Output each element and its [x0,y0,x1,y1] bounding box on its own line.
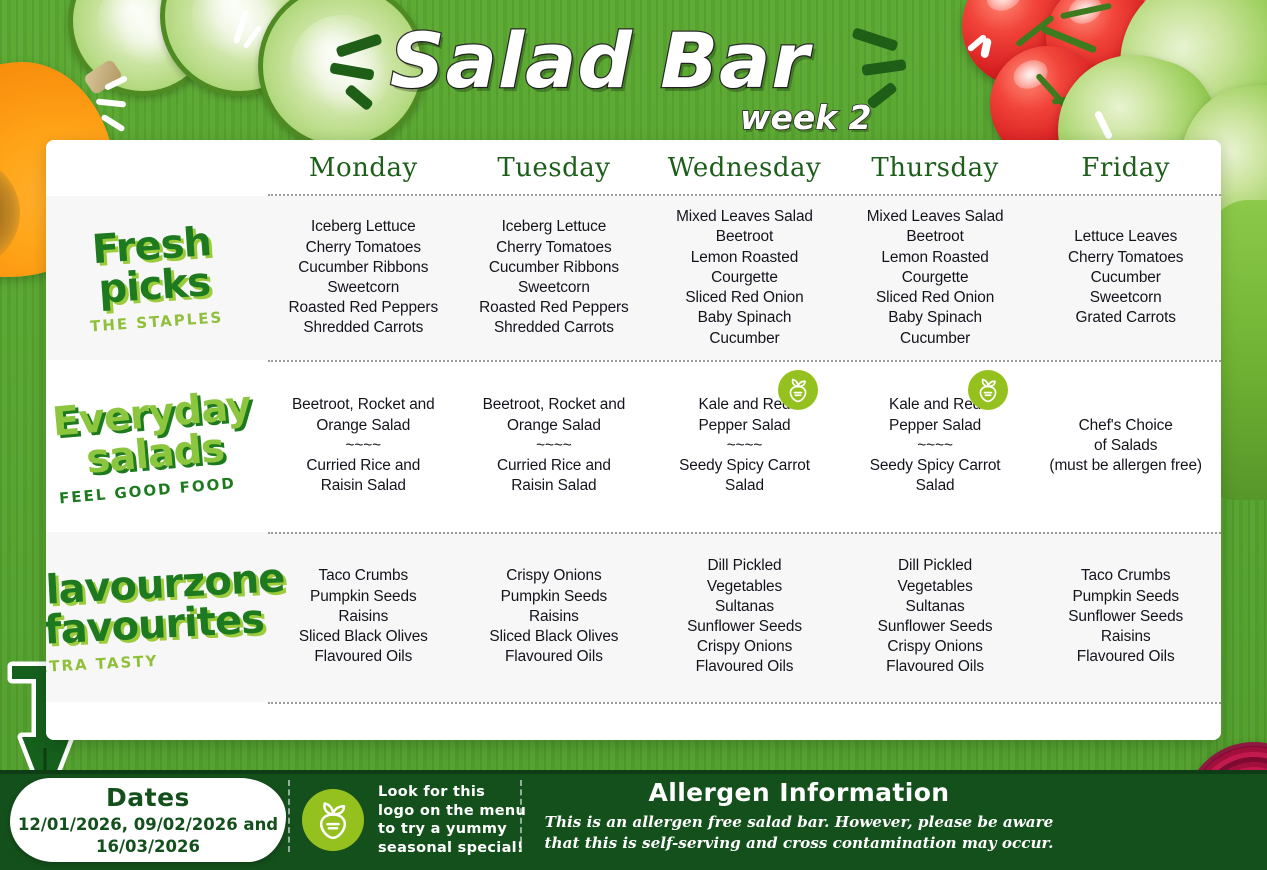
menu-items: Kale and Red Pepper Salad ~~~~ Seedy Spi… [870,395,1001,496]
row-divider [268,194,1221,196]
section-title: Everyday salads [50,385,255,482]
menu-cell-fresh-tuesday: Iceberg Lettuce Cherry Tomatoes Cucumber… [459,196,650,360]
seasonal-special-beetroot-icon [968,370,1008,410]
menu-items: Mixed Leaves Salad Beetroot Lemon Roaste… [867,207,1004,348]
menu-items: Dill Pickled Vegetables Sultanas Sunflow… [687,556,802,677]
menu-items: Chef's Choice of Salads (must be allerge… [1049,416,1202,477]
menu-items: Crispy Onions Pumpkin Seeds Raisins Slic… [489,566,618,667]
menu-cell-flavourzone-wednesday: Dill Pickled Vegetables Sultanas Sunflow… [649,532,840,702]
dates-value: 12/01/2026, 09/02/2026 and 16/03/2026 [18,814,278,858]
menu-items: Iceberg Lettuce Cherry Tomatoes Cucumber… [479,217,629,338]
grid-bottom-spacer [1030,702,1221,740]
dates-title: Dates [106,783,190,812]
seasonal-special-beetroot-icon [778,370,818,410]
section-label-fresh-picks: Fresh picks THE STAPLES [46,196,268,360]
grid-bottom-spacer [459,702,650,740]
menu-cell-flavourzone-monday: Taco Crumbs Pumpkin Seeds Raisins Sliced… [268,532,459,702]
grid-bottom-spacer [268,702,459,740]
menu-cell-fresh-friday: Lettuce Leaves Cherry Tomatoes Cucumber … [1030,196,1221,360]
menu-cell-flavourzone-tuesday: Crispy Onions Pumpkin Seeds Raisins Slic… [459,532,650,702]
grid-bottom-spacer [649,702,840,740]
day-header-tuesday: Tuesday [459,140,650,196]
menu-cell-fresh-thursday: Mixed Leaves Salad Beetroot Lemon Roaste… [840,196,1031,360]
week-label: week 2 [740,98,872,137]
menu-cell-flavourzone-thursday: Dill Pickled Vegetables Sultanas Sunflow… [840,532,1031,702]
grid-bottom-spacer [46,702,268,740]
menu-cell-fresh-monday: Iceberg Lettuce Cherry Tomatoes Cucumber… [268,196,459,360]
section-label-everyday-salads: Everyday salads FEEL GOOD FOOD [46,360,268,532]
salad-bar-poster: Salad Bar week 2 Monday Tuesday Wednesda… [0,0,1267,870]
grid-corner-spacer [46,140,268,196]
menu-grid: Monday Tuesday Wednesday Thursday Friday… [46,140,1221,740]
menu-card: Monday Tuesday Wednesday Thursday Friday… [46,140,1221,740]
dates-panel: Dates 12/01/2026, 09/02/2026 and 16/03/2… [10,778,286,862]
menu-cell-everyday-friday: Chef's Choice of Salads (must be allerge… [1030,360,1221,532]
menu-items: Beetroot, Rocket and Orange Salad ~~~~ C… [292,395,435,496]
seasonal-note-text: Look for this logo on the menu to try a … [378,783,526,857]
footer-divider [288,780,290,852]
menu-items: Iceberg Lettuce Cherry Tomatoes Cucumber… [289,217,439,338]
menu-items: Beetroot, Rocket and Orange Salad ~~~~ C… [483,395,626,496]
page-title: Salad Bar [390,16,810,105]
seasonal-logo-note: Look for this logo on the menu to try a … [302,783,526,857]
section-label-flavourzone-favourites: Flavourzone favourites EXTRA TASTY [46,532,268,702]
menu-items: Dill Pickled Vegetables Sultanas Sunflow… [878,556,993,677]
grid-bottom-spacer [840,702,1031,740]
section-title: Fresh picks [84,221,223,310]
menu-cell-everyday-wednesday: Kale and Red Pepper Salad ~~~~ Seedy Spi… [649,360,840,532]
menu-items: Kale and Red Pepper Salad ~~~~ Seedy Spi… [679,395,810,496]
menu-items: Taco Crumbs Pumpkin Seeds Sunflower Seed… [1068,566,1183,667]
row-divider [268,702,1221,704]
day-header-wednesday: Wednesday [649,140,840,196]
row-divider [268,532,1221,534]
poster-header: Salad Bar week 2 [0,0,1267,142]
menu-items: Lettuce Leaves Cherry Tomatoes Cucumber … [1068,227,1183,328]
row-divider [268,360,1221,362]
menu-items: Taco Crumbs Pumpkin Seeds Raisins Sliced… [299,566,428,667]
section-title: Flavourzone favourites [46,558,288,652]
menu-cell-everyday-tuesday: Beetroot, Rocket and Orange Salad ~~~~ C… [459,360,650,532]
allergen-body: This is an allergen free salad bar. Howe… [534,812,1064,854]
allergen-information: Allergen Information This is an allergen… [534,778,1064,854]
allergen-title: Allergen Information [534,778,1064,807]
day-header-monday: Monday [268,140,459,196]
menu-cell-everyday-thursday: Kale and Red Pepper Salad ~~~~ Seedy Spi… [840,360,1031,532]
menu-cell-everyday-monday: Beetroot, Rocket and Orange Salad ~~~~ C… [268,360,459,532]
seasonal-special-beetroot-icon [302,789,364,851]
menu-cell-fresh-wednesday: Mixed Leaves Salad Beetroot Lemon Roaste… [649,196,840,360]
menu-items: Mixed Leaves Salad Beetroot Lemon Roaste… [676,207,813,348]
menu-cell-flavourzone-friday: Taco Crumbs Pumpkin Seeds Sunflower Seed… [1030,532,1221,702]
day-header-thursday: Thursday [840,140,1031,196]
day-header-friday: Friday [1030,140,1221,196]
footer-top-rule [0,770,1267,774]
